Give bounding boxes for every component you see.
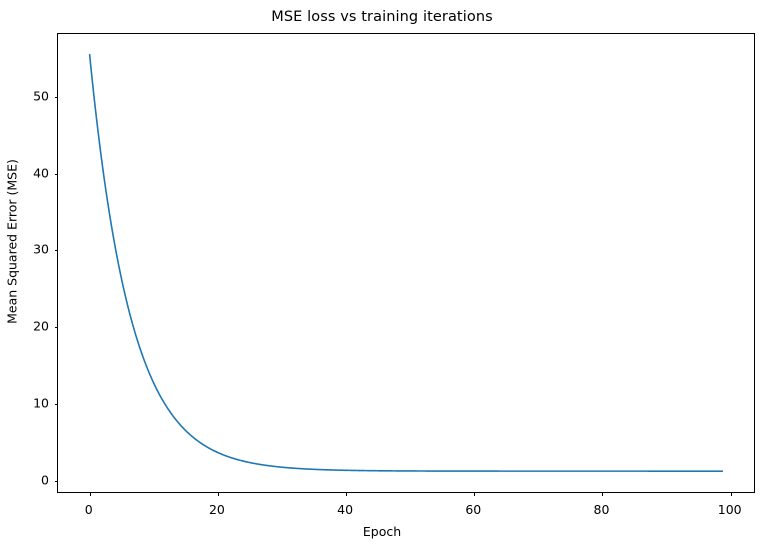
y-tick-label: 50 <box>0 88 49 103</box>
matplotlib-figure: MSE loss vs training iterations 01020304… <box>0 0 764 547</box>
x-tick-mark <box>602 492 603 496</box>
page-title: MSE loss vs training iterations <box>0 9 764 25</box>
y-axis-label: Mean Squared Error (MSE) <box>5 122 20 362</box>
x-tick-mark <box>218 492 219 496</box>
x-tick-label: 100 <box>718 502 742 517</box>
y-tick-mark <box>55 250 59 251</box>
y-tick-label: 10 <box>0 395 49 410</box>
x-tick-label: 80 <box>594 502 610 517</box>
y-tick-mark <box>55 174 59 175</box>
y-tick-label: 0 <box>0 472 49 487</box>
x-tick-mark <box>474 492 475 496</box>
x-tick-mark <box>90 492 91 496</box>
x-tick-label: 0 <box>85 502 93 517</box>
y-tick-mark <box>55 481 59 482</box>
y-tick-mark <box>55 404 59 405</box>
x-tick-mark <box>731 492 732 496</box>
x-tick-label: 40 <box>337 502 353 517</box>
x-axis-label: Epoch <box>0 524 764 539</box>
plot-axes <box>57 33 755 493</box>
line-chart-canvas <box>58 34 754 492</box>
x-tick-label: 60 <box>465 502 481 517</box>
x-tick-mark <box>346 492 347 496</box>
y-tick-mark <box>55 97 59 98</box>
y-tick-mark <box>55 327 59 328</box>
x-tick-label: 20 <box>209 502 225 517</box>
mse-loss-line <box>90 55 723 472</box>
